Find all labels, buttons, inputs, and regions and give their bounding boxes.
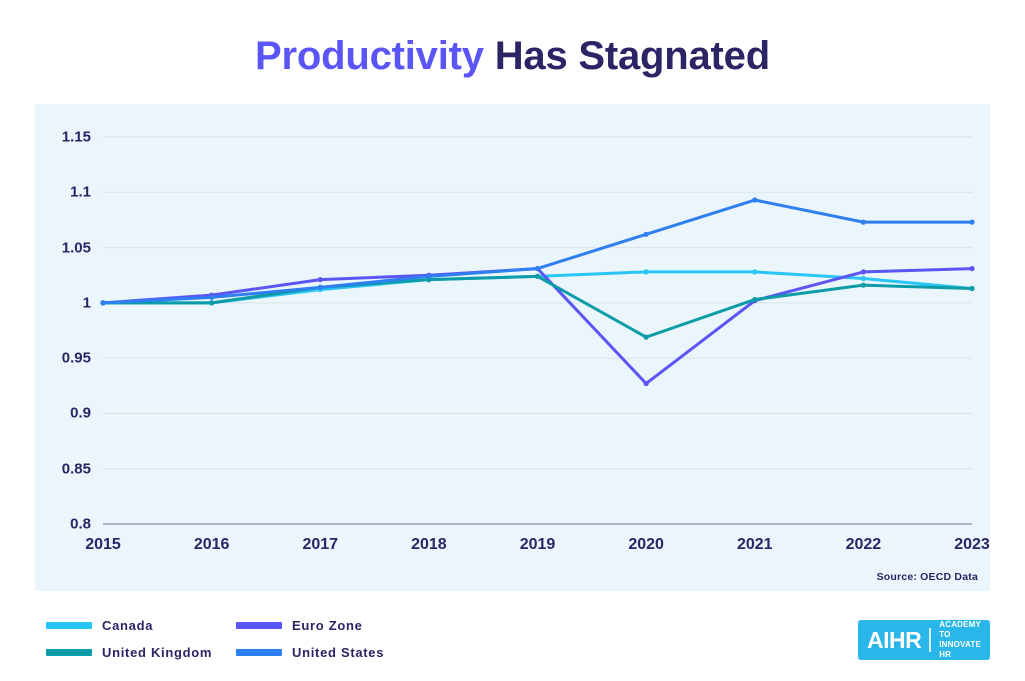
legend-label: Euro Zone bbox=[292, 618, 363, 633]
data-point bbox=[752, 269, 757, 274]
x-axis-tick-label: 2018 bbox=[389, 536, 469, 554]
series-line-euro-zone bbox=[103, 269, 972, 384]
data-point bbox=[318, 277, 323, 282]
logo-tagline: ACADEMY TO INNOVATE HR bbox=[939, 620, 981, 660]
x-axis-tick-label: 2015 bbox=[63, 536, 143, 554]
data-point bbox=[969, 286, 974, 291]
legend-item-canada[interactable]: Canada bbox=[46, 618, 236, 633]
logo-divider bbox=[929, 628, 931, 652]
logo-tagline-line2: INNOVATE HR bbox=[939, 640, 981, 659]
data-point bbox=[100, 300, 105, 305]
data-point bbox=[426, 274, 431, 279]
y-axis-tick-label: 0.85 bbox=[31, 460, 91, 477]
data-point bbox=[969, 220, 974, 225]
data-point bbox=[861, 276, 866, 281]
data-point bbox=[861, 269, 866, 274]
data-point bbox=[644, 232, 649, 237]
data-point bbox=[318, 285, 323, 290]
data-point bbox=[861, 220, 866, 225]
data-point bbox=[209, 295, 214, 300]
source-note: Source: OECD Data bbox=[877, 571, 978, 583]
page-title-main: Has Stagnated bbox=[484, 34, 770, 78]
x-axis-tick-label: 2023 bbox=[932, 536, 1012, 554]
data-point bbox=[535, 274, 540, 279]
data-point bbox=[535, 266, 540, 271]
x-axis-tick-label: 2022 bbox=[823, 536, 903, 554]
legend-label: United Kingdom bbox=[102, 645, 212, 660]
y-axis-tick-label: 1.15 bbox=[31, 129, 91, 146]
legend-item-united-states[interactable]: United States bbox=[236, 645, 426, 660]
data-point bbox=[644, 269, 649, 274]
x-axis-tick-label: 2021 bbox=[715, 536, 795, 554]
page-title-accent: Productivity bbox=[255, 34, 484, 78]
x-axis-tick-label: 2016 bbox=[172, 536, 252, 554]
x-axis-tick-label: 2019 bbox=[498, 536, 578, 554]
page-title: Productivity Has Stagnated bbox=[0, 34, 1025, 78]
y-axis-tick-label: 1 bbox=[31, 294, 91, 311]
data-point bbox=[861, 283, 866, 288]
logo-tagline-line1: ACADEMY TO bbox=[939, 620, 981, 639]
legend-item-euro-zone[interactable]: Euro Zone bbox=[236, 618, 426, 633]
chart-legend: Canada Euro Zone United Kingdom United S… bbox=[46, 612, 566, 666]
data-point bbox=[752, 297, 757, 302]
y-axis-tick-label: 0.95 bbox=[31, 350, 91, 367]
line-chart bbox=[35, 104, 990, 591]
data-point bbox=[644, 381, 649, 386]
chart-panel: 0.80.850.90.9511.051.11.15 2015201620172… bbox=[35, 104, 990, 591]
y-axis-tick-label: 0.9 bbox=[31, 405, 91, 422]
y-axis-tick-label: 1.05 bbox=[31, 239, 91, 256]
aihr-logo[interactable]: AIHR ACADEMY TO INNOVATE HR bbox=[858, 620, 990, 660]
legend-label: United States bbox=[292, 645, 384, 660]
x-axis-tick-label: 2017 bbox=[280, 536, 360, 554]
logo-wordmark: AIHR bbox=[867, 629, 921, 652]
y-axis-tick-label: 1.1 bbox=[31, 184, 91, 201]
legend-item-united-kingdom[interactable]: United Kingdom bbox=[46, 645, 236, 660]
series-line-united-kingdom bbox=[103, 276, 972, 337]
data-point bbox=[969, 266, 974, 271]
data-point bbox=[644, 335, 649, 340]
x-axis-tick-label: 2020 bbox=[606, 536, 686, 554]
legend-swatch-icon bbox=[46, 622, 92, 629]
data-point bbox=[209, 300, 214, 305]
y-axis-tick-label: 0.8 bbox=[31, 516, 91, 533]
legend-swatch-icon bbox=[236, 649, 282, 656]
data-point bbox=[752, 197, 757, 202]
legend-swatch-icon bbox=[46, 649, 92, 656]
legend-swatch-icon bbox=[236, 622, 282, 629]
legend-label: Canada bbox=[102, 618, 153, 633]
